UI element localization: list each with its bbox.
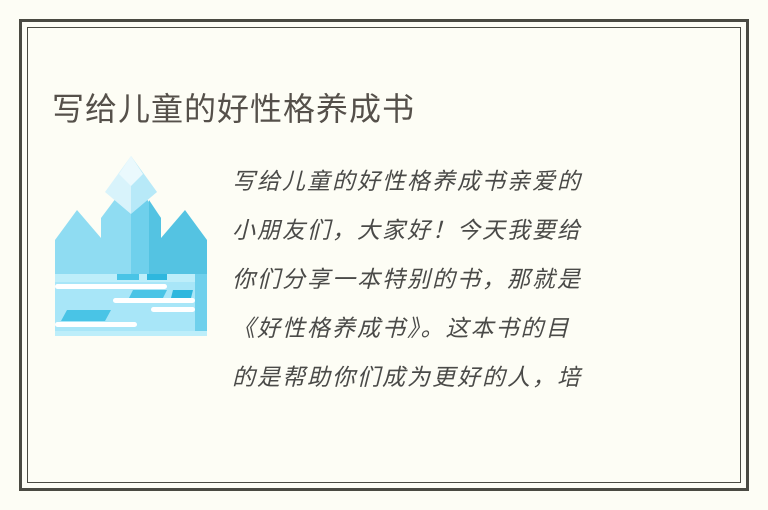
body-line: 小朋友们，大家好！今天我要给	[232, 207, 652, 256]
iceberg-illustration	[55, 148, 207, 304]
body-line: 《好性格养成书》。这本书的目	[232, 305, 652, 354]
page-title: 写给儿童的好性格养成书	[52, 87, 415, 131]
article-page: 写给儿童的好性格养成书	[0, 0, 768, 510]
article-body: 写给儿童的好性格养成书亲爱的 小朋友们，大家好！今天我要给 你们分享一本特别的书…	[232, 158, 652, 403]
iceberg-water-band	[55, 290, 207, 336]
body-line: 写给儿童的好性格养成书亲爱的	[232, 158, 652, 207]
body-line: 的是帮助你们成为更好的人，培	[232, 354, 652, 403]
body-line: 你们分享一本特别的书，那就是	[232, 256, 652, 305]
